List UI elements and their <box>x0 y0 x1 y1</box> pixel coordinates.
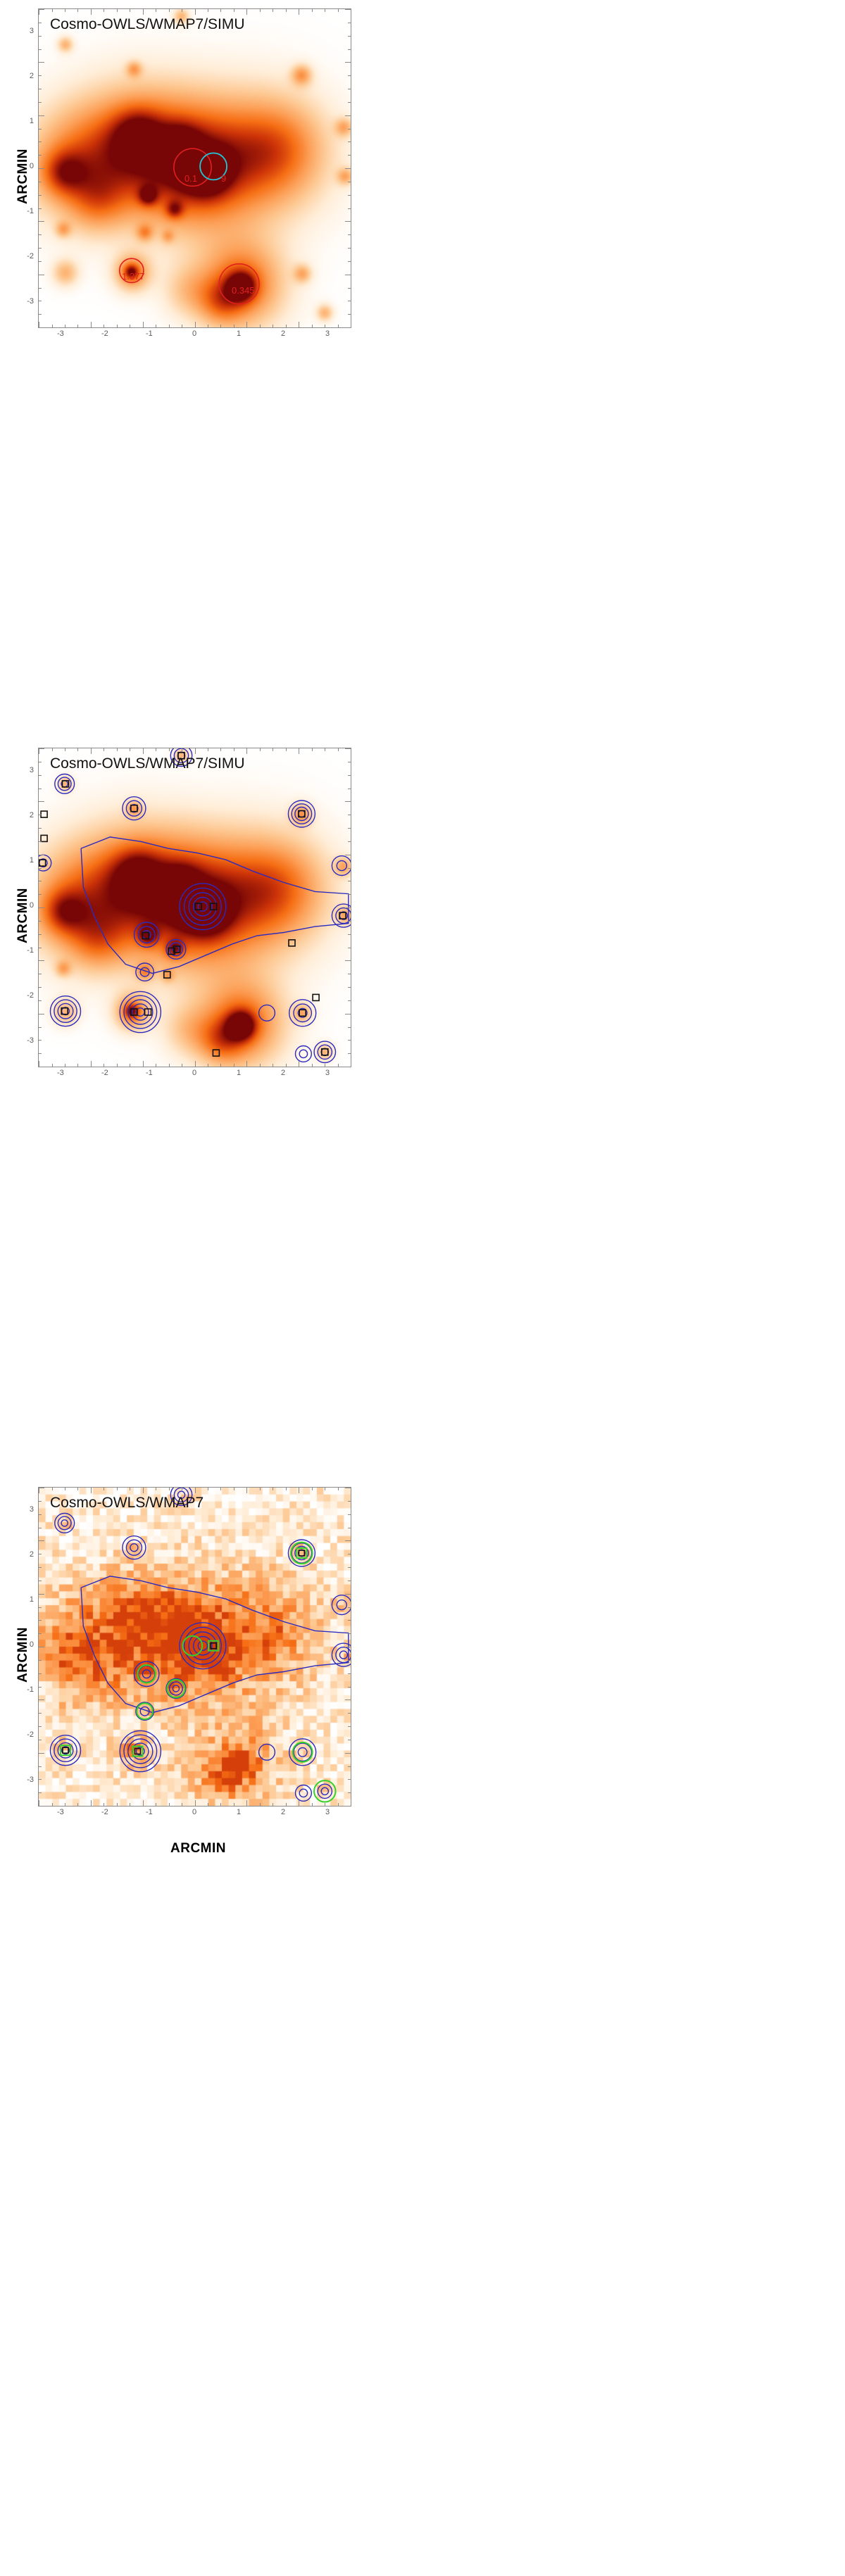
axis-tick <box>345 1806 351 1807</box>
axis-tick <box>348 974 351 974</box>
axis-tick <box>273 1488 273 1490</box>
panel-2: ARCMIN Cosmo-OWLS/WMAP7/SIMU 3 2 1 0 -1 … <box>0 739 366 1091</box>
axis-tick <box>195 1488 196 1493</box>
axis-tick <box>348 841 351 842</box>
axis-tick <box>351 322 351 327</box>
axis-tick <box>351 1488 351 1493</box>
axis-tick <box>351 9 351 15</box>
panel-3-xtick-1: -2 <box>101 1808 108 1816</box>
axis-tick <box>143 9 144 15</box>
axis-tick <box>117 1803 118 1806</box>
panel-1-ytick-1: 2 <box>20 72 34 80</box>
axis-tick <box>286 1803 287 1806</box>
axis-tick <box>345 1540 351 1541</box>
axis-tick <box>39 948 42 948</box>
axis-tick <box>234 9 234 12</box>
axis-tick <box>104 325 104 327</box>
axis-tick <box>348 23 351 23</box>
axis-tick <box>65 748 65 751</box>
panel-1-ytick-0: 3 <box>20 27 34 35</box>
axis-tick <box>169 1064 170 1067</box>
axis-tick <box>348 1501 351 1502</box>
axis-tick <box>39 208 42 209</box>
axis-tick <box>143 322 144 327</box>
panel-3-xtick-6: 3 <box>325 1808 330 1816</box>
axis-tick <box>39 1687 42 1688</box>
axis-tick <box>143 1800 144 1806</box>
axis-tick <box>52 9 53 12</box>
axis-tick <box>39 987 42 988</box>
axis-tick <box>325 1803 325 1806</box>
axis-tick <box>348 934 351 935</box>
axis-tick <box>39 960 44 961</box>
axis-tick <box>312 748 313 751</box>
panel-3-xtick-5: 2 <box>281 1808 285 1816</box>
axis-tick <box>39 327 44 328</box>
axis-tick <box>348 881 351 881</box>
axis-tick <box>348 1713 351 1714</box>
axis-tick <box>39 9 39 15</box>
axis-tick <box>286 748 287 751</box>
axis-tick <box>156 325 156 327</box>
panel-1-title: Cosmo-OWLS/WMAP7/SIMU <box>50 16 245 33</box>
axis-tick <box>39 1800 39 1806</box>
axis-tick <box>325 748 325 751</box>
axis-tick <box>260 325 261 327</box>
axis-tick <box>246 1061 247 1067</box>
axis-tick <box>65 1064 65 1067</box>
axis-tick <box>345 1647 351 1647</box>
panel-3-title: Cosmo-OWLS/WMAP7 <box>50 1495 204 1512</box>
axis-tick <box>91 748 92 754</box>
panel-1-xtick-4: 1 <box>237 329 241 338</box>
axis-tick <box>39 1540 44 1541</box>
panel-2-title: Cosmo-OWLS/WMAP7/SIMU <box>50 755 245 772</box>
axis-tick <box>345 748 351 749</box>
axis-tick <box>39 182 42 182</box>
axis-tick <box>195 1800 196 1806</box>
axis-tick <box>345 1594 351 1595</box>
axis-tick <box>39 1766 42 1767</box>
axis-tick <box>143 748 144 754</box>
axis-tick <box>39 288 42 289</box>
axis-tick <box>208 1488 208 1490</box>
axis-tick <box>169 9 170 12</box>
axis-tick <box>182 325 182 327</box>
axis-tick <box>348 155 351 156</box>
axis-tick <box>286 1488 287 1490</box>
axis-tick <box>65 1803 65 1806</box>
panel-3-ytick-3: 0 <box>20 1640 34 1649</box>
panel-2-ylabel: ARCMIN <box>15 888 31 943</box>
axis-tick <box>195 1061 196 1067</box>
axis-tick <box>39 1753 44 1754</box>
axis-tick <box>246 1488 247 1493</box>
axis-tick <box>39 314 42 315</box>
axis-tick <box>39 1488 44 1488</box>
panel-3-xtick-3: 0 <box>192 1808 196 1816</box>
axis-tick <box>39 1806 44 1807</box>
axis-tick <box>39 1620 42 1621</box>
axis-tick <box>208 1803 208 1806</box>
axis-tick <box>273 1064 273 1067</box>
axis-tick <box>77 1064 78 1067</box>
axis-tick <box>117 748 118 751</box>
axis-tick <box>348 1514 351 1515</box>
axis-tick <box>39 748 39 754</box>
axis-tick <box>39 129 42 130</box>
axis-tick <box>246 748 247 754</box>
axis-tick <box>182 1803 182 1806</box>
axis-tick <box>345 1699 351 1700</box>
axis-tick <box>348 1766 351 1767</box>
axis-tick <box>345 960 351 961</box>
axis-tick <box>348 1740 351 1740</box>
axis-tick <box>52 1803 53 1806</box>
axis-tick <box>220 9 221 12</box>
axis-tick <box>39 221 44 222</box>
panel-3-ytick-0: 3 <box>20 1505 34 1514</box>
axis-tick <box>91 1800 92 1806</box>
axis-tick <box>260 1064 261 1067</box>
panel-3-ytick-5: -2 <box>17 1730 34 1739</box>
axis-tick <box>39 1594 44 1595</box>
axis-tick <box>348 129 351 130</box>
axis-tick <box>39 921 42 922</box>
axis-tick <box>348 288 351 289</box>
axis-tick <box>312 9 313 12</box>
panel-3: ARCMIN Cosmo-OWLS/WMAP7 3 2 1 0 -1 -2 -3… <box>0 1478 366 1830</box>
panel-2-ytick-2: 1 <box>20 856 34 865</box>
panel-3-xtick-2: -1 <box>146 1808 153 1816</box>
axis-tick <box>348 1040 351 1041</box>
axis-tick <box>39 1027 42 1028</box>
axis-tick <box>117 1488 118 1490</box>
axis-tick <box>39 1501 42 1502</box>
axis-tick <box>39 828 42 829</box>
axis-tick <box>39 907 44 908</box>
panel-1-heatmap <box>39 9 351 327</box>
axis-tick <box>195 322 196 327</box>
axis-tick <box>348 1554 351 1554</box>
panel-3-ytick-4: -1 <box>17 1685 34 1694</box>
axis-tick <box>104 748 104 751</box>
axis-tick <box>39 881 42 881</box>
axis-tick <box>39 775 42 776</box>
axis-tick <box>39 788 42 789</box>
panel-3-ytick-2: 1 <box>20 1595 34 1604</box>
axis-tick <box>39 1061 39 1067</box>
axis-tick <box>348 828 351 829</box>
axis-tick <box>208 1064 208 1067</box>
panel-1-ytick-3: 0 <box>20 162 34 170</box>
axis-tick <box>39 142 42 142</box>
panel-2-ytick-4: -1 <box>17 946 34 955</box>
axis-tick <box>39 1607 42 1608</box>
axis-tick <box>39 868 42 869</box>
axis-tick <box>39 1740 42 1740</box>
axis-tick <box>39 1633 42 1634</box>
axis-tick <box>351 1800 351 1806</box>
axis-tick <box>338 748 339 751</box>
axis-tick <box>39 934 42 935</box>
axis-tick <box>348 142 351 142</box>
axis-tick <box>234 1488 234 1490</box>
axis-tick <box>208 325 208 327</box>
panel-2-ytick-3: 0 <box>20 901 34 910</box>
panel-2-plot[interactable]: Cosmo-OWLS/WMAP7/SIMU <box>38 748 351 1067</box>
axis-tick <box>91 1488 92 1493</box>
axis-tick <box>348 261 351 262</box>
panel-1-xtick-5: 2 <box>281 329 285 338</box>
panel-1-ytick-4: -1 <box>17 207 34 215</box>
axis-tick <box>39 815 42 815</box>
axis-tick <box>345 1067 351 1067</box>
axis-tick <box>39 9 44 10</box>
axis-tick <box>299 1061 299 1067</box>
axis-tick <box>65 1488 65 1490</box>
panel-3-xtick-4: 1 <box>237 1808 241 1816</box>
axis-tick <box>117 325 118 327</box>
axis-tick <box>39 1699 44 1700</box>
axis-tick <box>273 325 273 327</box>
axis-tick <box>91 9 92 15</box>
axis-tick <box>348 987 351 988</box>
axis-tick <box>39 36 42 37</box>
axis-tick <box>39 1779 42 1780</box>
panel-2-heatmap <box>39 748 351 1067</box>
axis-tick <box>91 1061 92 1067</box>
axis-tick <box>156 748 156 751</box>
axis-tick <box>299 1488 299 1493</box>
axis-tick <box>348 948 351 948</box>
axis-tick <box>325 1064 325 1067</box>
axis-tick <box>234 1803 234 1806</box>
axis-tick <box>220 1803 221 1806</box>
axis-tick <box>345 115 351 116</box>
panel-1-ytick-5: -2 <box>17 252 34 260</box>
axis-tick <box>130 748 130 751</box>
axis-tick <box>348 762 351 762</box>
axis-tick <box>39 1647 44 1647</box>
axis-tick <box>312 325 313 327</box>
axis-tick <box>143 1061 144 1067</box>
axis-tick <box>299 1800 299 1806</box>
axis-tick <box>234 1064 234 1067</box>
axis-tick <box>39 855 44 855</box>
axis-tick <box>220 325 221 327</box>
axis-tick <box>348 248 351 249</box>
panel-1-xtick-1: -2 <box>101 329 108 338</box>
axis-tick <box>348 182 351 182</box>
axis-tick <box>345 1753 351 1754</box>
axis-tick <box>39 234 42 235</box>
axis-tick <box>52 1064 53 1067</box>
axis-tick <box>130 9 130 12</box>
axis-tick <box>348 1620 351 1621</box>
axis-tick <box>338 9 339 12</box>
axis-tick <box>345 855 351 855</box>
axis-tick <box>348 868 351 869</box>
panel-1-plot[interactable]: Cosmo-OWLS/WMAP7/SIMU 0.1 9 1.377 0.345 <box>38 8 351 328</box>
axis-tick <box>39 1000 42 1001</box>
axis-tick <box>39 748 44 749</box>
axis-tick <box>325 325 325 327</box>
panel-2-xtick-6: 3 <box>325 1069 330 1077</box>
axis-tick <box>39 1567 42 1568</box>
axis-tick <box>130 1803 130 1806</box>
axis-tick <box>348 1633 351 1634</box>
axis-tick <box>39 1792 42 1793</box>
figure-root: ARCMIN Cosmo-OWLS/WMAP7/SIMU 0.1 9 1.377… <box>0 0 845 2576</box>
panel-3-ytick-6: -3 <box>17 1776 34 1784</box>
axis-tick <box>77 325 78 327</box>
axis-tick <box>348 89 351 89</box>
axis-tick <box>338 1488 339 1490</box>
axis-tick <box>39 248 42 249</box>
axis-tick <box>260 9 261 12</box>
axis-tick <box>39 1660 42 1661</box>
axis-tick <box>39 1514 42 1515</box>
axis-tick <box>39 1040 42 1041</box>
axis-tick <box>52 1488 53 1490</box>
axis-tick <box>348 1567 351 1568</box>
panel-1-xtick-2: -1 <box>146 329 153 338</box>
axis-tick <box>348 1053 351 1054</box>
axis-tick <box>345 62 351 63</box>
axis-tick <box>39 801 44 802</box>
axis-tick <box>52 325 53 327</box>
axis-tick <box>348 234 351 235</box>
axis-tick <box>351 1061 351 1067</box>
axis-tick <box>348 775 351 776</box>
axis-tick <box>169 1488 170 1490</box>
panel-3-xtick-0: -3 <box>57 1808 64 1816</box>
axis-tick <box>345 907 351 908</box>
panel-2-xtick-2: -1 <box>146 1069 153 1077</box>
panel-1-xtick-0: -3 <box>57 329 64 338</box>
axis-tick <box>348 75 351 76</box>
axis-tick <box>104 1064 104 1067</box>
axis-tick <box>345 275 351 275</box>
axis-tick <box>220 748 221 751</box>
axis-tick <box>260 748 261 751</box>
axis-tick <box>338 325 339 327</box>
axis-tick <box>156 1064 156 1067</box>
axis-tick <box>338 1803 339 1806</box>
axis-tick <box>117 9 118 12</box>
axis-tick <box>104 1803 104 1806</box>
axis-tick <box>130 325 130 327</box>
panel-3-heatmap <box>39 1488 351 1806</box>
axis-tick <box>348 1581 351 1581</box>
axis-tick <box>39 1726 42 1727</box>
axis-tick <box>130 1488 130 1490</box>
axis-tick <box>351 748 351 754</box>
axis-tick <box>260 1803 261 1806</box>
axis-tick <box>348 314 351 315</box>
axis-tick <box>325 9 325 12</box>
axis-tick <box>39 62 44 63</box>
axis-tick <box>65 325 65 327</box>
axis-tick <box>169 1803 170 1806</box>
axis-tick <box>312 1488 313 1490</box>
axis-tick <box>39 1673 42 1674</box>
panel-3-plot[interactable]: Cosmo-OWLS/WMAP7 <box>38 1487 351 1807</box>
axis-tick <box>273 748 273 751</box>
axis-tick <box>286 1064 287 1067</box>
axis-tick <box>39 1053 42 1054</box>
panel-2-ytick-1: 2 <box>20 811 34 819</box>
axis-tick <box>39 195 42 196</box>
axis-tick <box>348 894 351 895</box>
axis-tick <box>39 1067 44 1067</box>
axis-tick <box>182 1488 182 1490</box>
axis-tick <box>39 115 44 116</box>
panel-1: ARCMIN Cosmo-OWLS/WMAP7/SIMU 0.1 9 1.377… <box>0 0 366 352</box>
axis-tick <box>220 1064 221 1067</box>
axis-tick <box>348 195 351 196</box>
axis-tick <box>104 1488 104 1490</box>
axis-tick <box>286 9 287 12</box>
axis-tick <box>348 1779 351 1780</box>
panel-1-ylabel: ARCMIN <box>15 149 31 204</box>
axis-tick <box>39 261 42 262</box>
panel-1-ytick-6: -3 <box>17 297 34 306</box>
axis-tick <box>338 1064 339 1067</box>
axis-tick <box>182 748 182 751</box>
axis-tick <box>348 921 351 922</box>
axis-tick <box>348 102 351 103</box>
axis-tick <box>345 221 351 222</box>
panel-2-xtick-4: 1 <box>237 1069 241 1077</box>
axis-tick <box>195 748 196 754</box>
axis-tick <box>39 1528 42 1528</box>
axis-tick <box>156 1803 156 1806</box>
global-xlabel: ARCMIN <box>170 1841 226 1856</box>
axis-tick <box>345 801 351 802</box>
axis-tick <box>348 815 351 815</box>
axis-tick <box>77 9 78 12</box>
panel-3-ytick-1: 2 <box>20 1550 34 1559</box>
axis-tick <box>348 1673 351 1674</box>
panel-1-xtick-6: 3 <box>325 329 330 338</box>
axis-tick <box>77 748 78 751</box>
panel-2-xtick-5: 2 <box>281 1069 285 1077</box>
axis-tick <box>182 1064 182 1067</box>
axis-tick <box>348 788 351 789</box>
axis-tick <box>39 1488 39 1493</box>
panel-2-xtick-3: 0 <box>192 1069 196 1077</box>
axis-tick <box>39 1581 42 1581</box>
axis-tick <box>325 1488 325 1490</box>
panel-3-ylabel: ARCMIN <box>15 1627 31 1683</box>
axis-tick <box>39 762 42 762</box>
panel-2-ytick-5: -2 <box>17 991 34 1000</box>
axis-tick <box>348 1726 351 1727</box>
axis-tick <box>348 1660 351 1661</box>
axis-tick <box>348 301 351 301</box>
axis-tick <box>345 1014 351 1014</box>
axis-tick <box>39 1014 44 1014</box>
panel-2-ytick-6: -3 <box>17 1036 34 1045</box>
axis-tick <box>143 1488 144 1493</box>
axis-tick <box>65 9 65 12</box>
panel-2-ytick-0: 3 <box>20 766 34 774</box>
axis-tick <box>39 894 42 895</box>
axis-tick <box>39 301 42 301</box>
axis-tick <box>246 1800 247 1806</box>
